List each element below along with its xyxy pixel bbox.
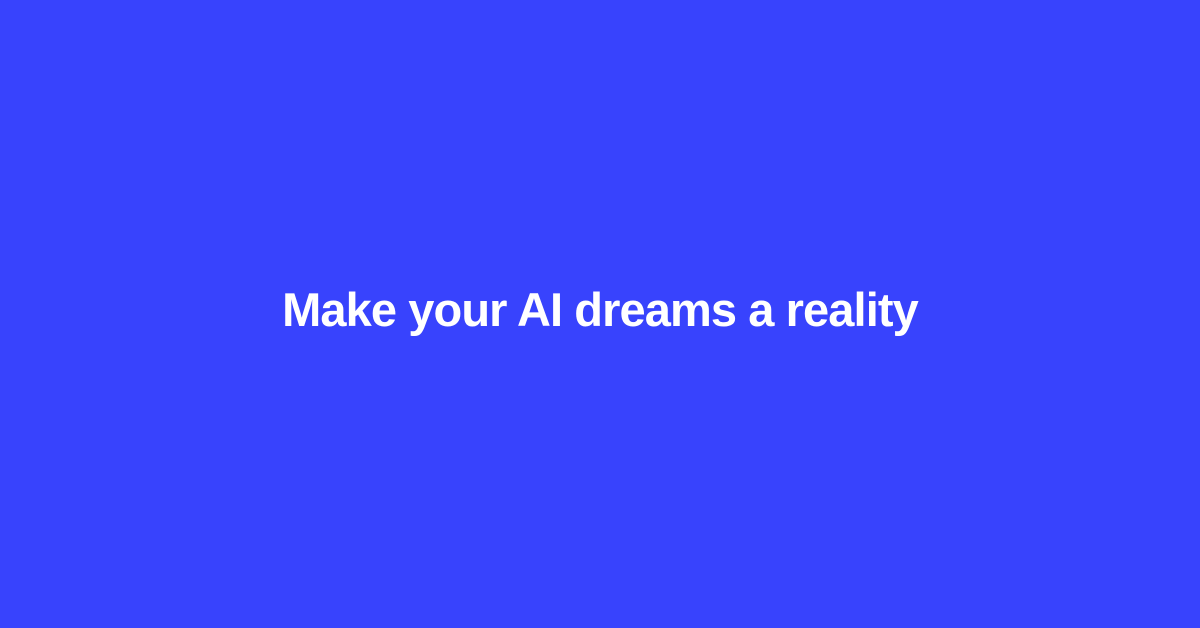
share-card: Make your AI dreams a reality	[0, 0, 1200, 628]
page-title: Make your AI dreams a reality	[282, 282, 918, 337]
headline-container: Make your AI dreams a reality	[234, 282, 966, 337]
